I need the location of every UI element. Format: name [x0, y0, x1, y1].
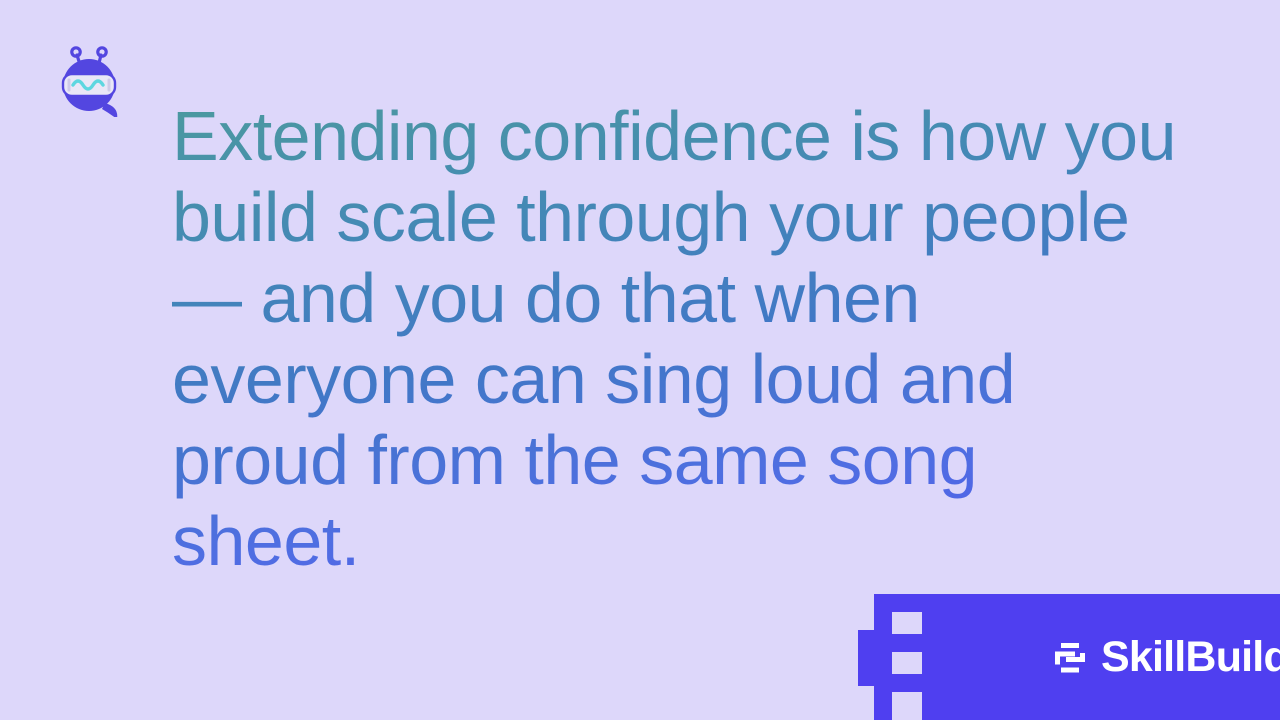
skillbuilder-glyph-icon	[1052, 640, 1088, 676]
robot-avatar-icon	[47, 33, 131, 117]
brand-badge-content: SkillBuilder	[922, 594, 1280, 720]
slide-canvas: Extending confidence is how you build sc…	[0, 0, 1280, 720]
brand-name-label: SkillBuilder	[1101, 636, 1280, 679]
brand-badge: SkillBuilder	[922, 594, 1280, 720]
quote-headline: Extending confidence is how you build sc…	[172, 96, 1182, 582]
